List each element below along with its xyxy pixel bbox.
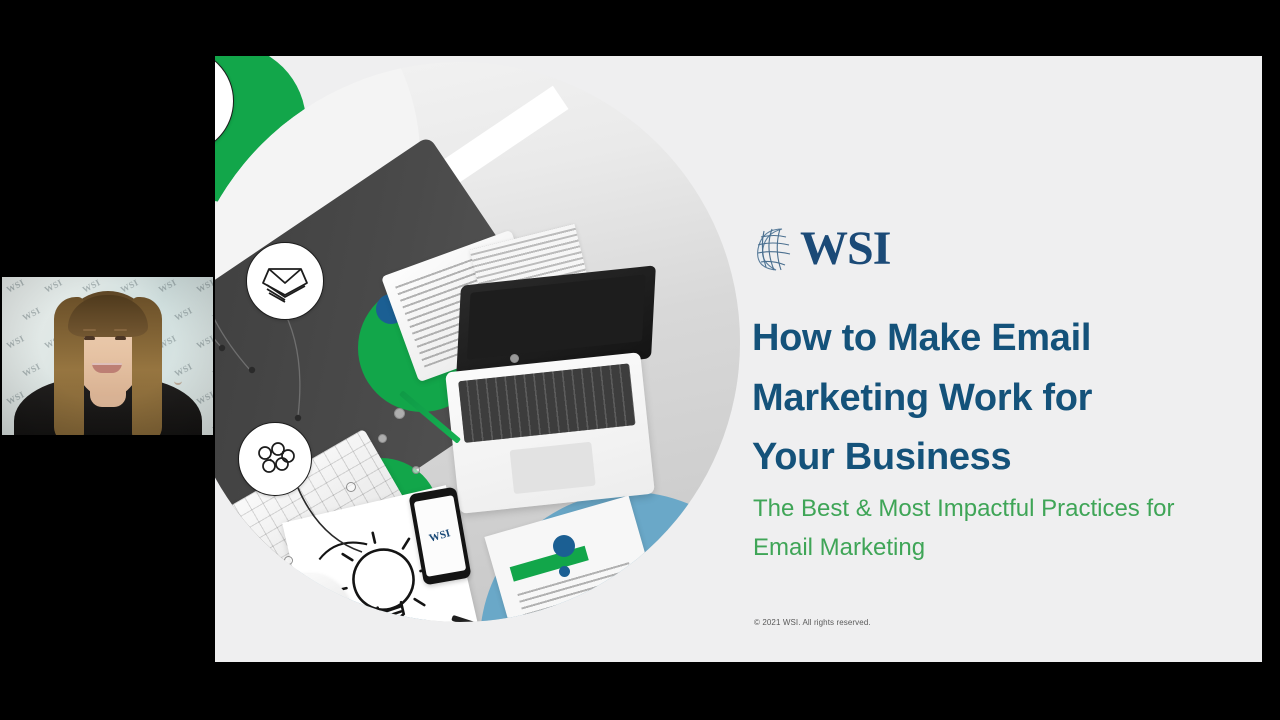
navy-dot-small	[559, 566, 570, 577]
phone-screen: WSI	[414, 495, 467, 577]
desk-ring-detail	[412, 466, 420, 474]
slide-artwork: WSI	[215, 56, 790, 662]
meeting-stage: WSIWSIWSIWSIWSIWSIWSIWSIWSIWSIWSIWSIWSIW…	[0, 0, 1280, 720]
desk-ring-detail	[394, 408, 405, 419]
wsi-logo: WSI	[752, 224, 890, 274]
laptop-keyboard	[458, 363, 636, 443]
slide-subtitle: The Best & Most Impactful Practices for …	[753, 489, 1223, 567]
lightbulb-icon	[215, 62, 220, 140]
envelope-icon	[257, 253, 313, 309]
laptop-base	[445, 352, 655, 514]
desk-ring-detail	[238, 532, 246, 540]
network-icon	[248, 432, 302, 486]
globe-icon	[752, 224, 798, 274]
navy-dot-large	[553, 535, 575, 557]
webcam-vignette	[2, 277, 213, 435]
phone-wsi-logo: WSI	[428, 527, 452, 544]
shared-slide[interactable]: WSI	[215, 56, 1262, 662]
slide-title: How to Make Email Marketing Work for You…	[752, 309, 1182, 488]
webcam-video-tile[interactable]: WSIWSIWSIWSIWSIWSIWSIWSIWSIWSIWSIWSIWSIW…	[2, 277, 213, 435]
desk-photo-circle: WSI	[215, 62, 740, 622]
slide-copyright: © 2021 WSI. All rights reserved.	[754, 618, 871, 627]
laptop-trackpad	[510, 442, 596, 494]
desk-ring-detail	[284, 556, 293, 565]
wsi-wordmark: WSI	[800, 225, 890, 273]
desk-ring-detail	[378, 434, 387, 443]
desk-ring-detail	[346, 482, 356, 492]
envelope-badge	[246, 242, 324, 320]
network-badge	[238, 422, 312, 496]
slide-text-panel: WSI How to Make Email Marketing Work for…	[752, 56, 1262, 662]
desk-ring-detail	[510, 354, 519, 363]
laptop-screen	[467, 274, 646, 359]
